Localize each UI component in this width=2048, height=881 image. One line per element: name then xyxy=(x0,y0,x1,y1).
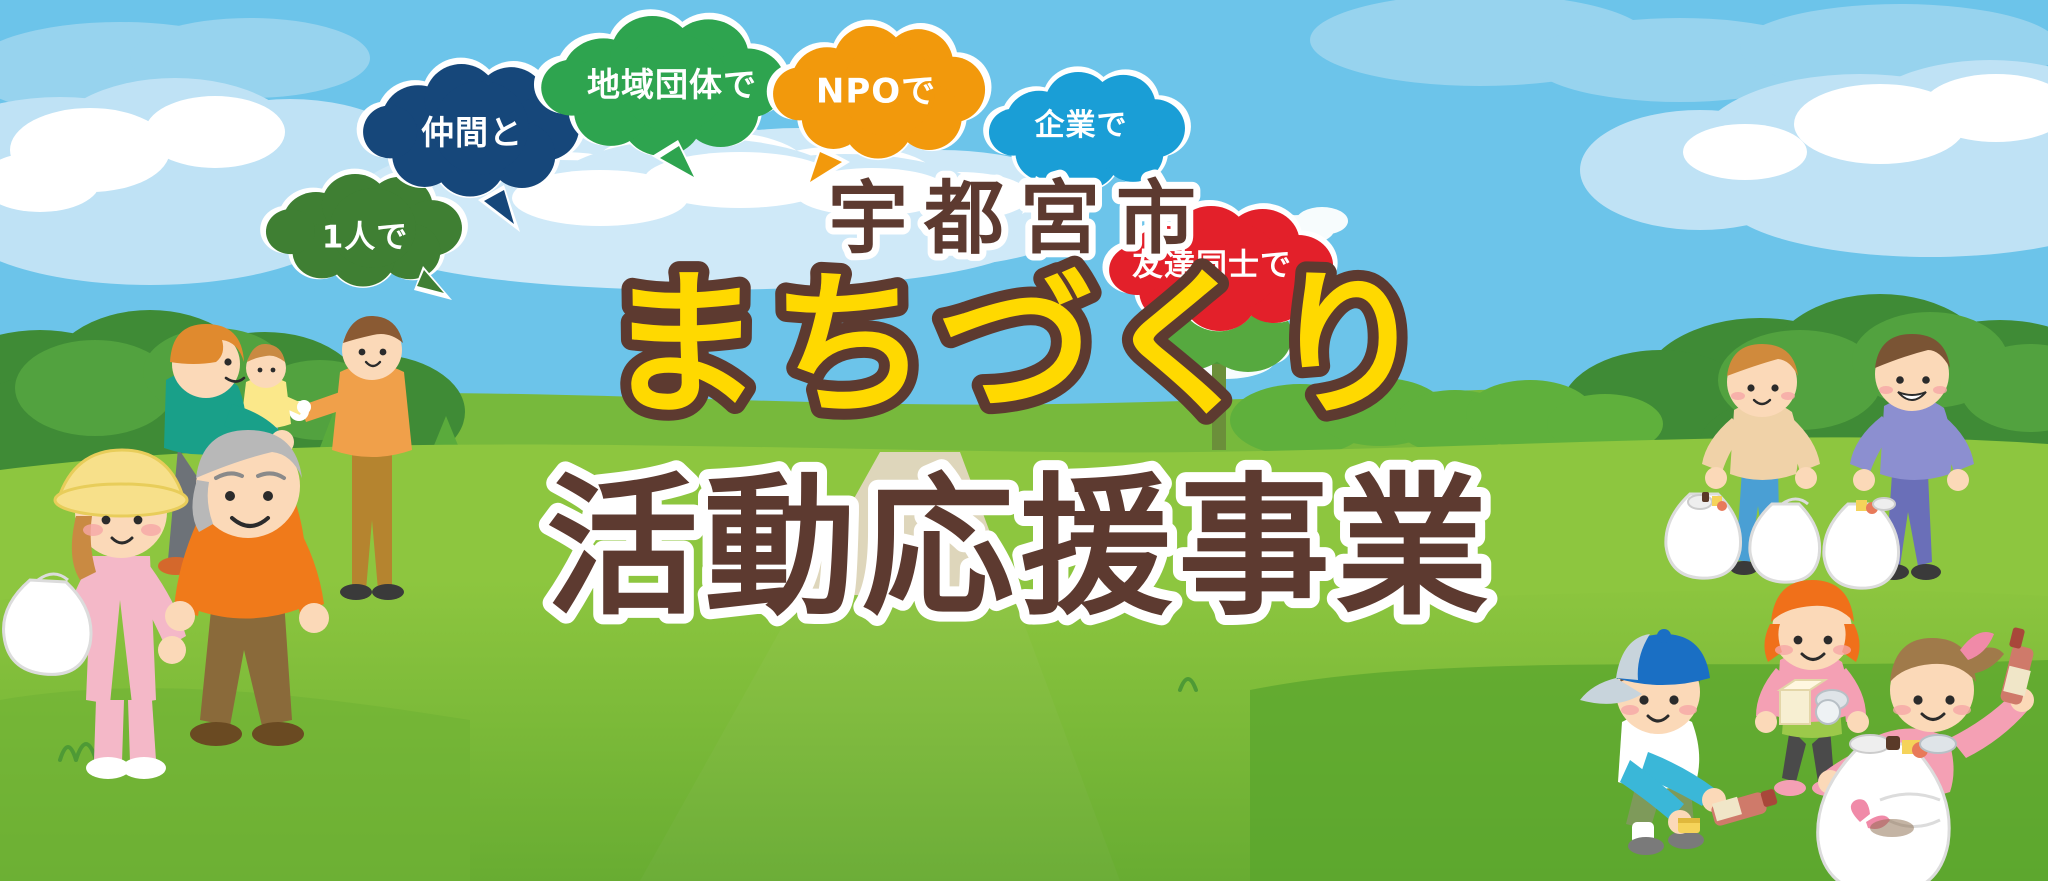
banner-root: 1人で 仲間と 地域団体で NPOで 企業で 友達同士で 宇都宮市 まちづくり … xyxy=(0,0,2048,881)
title-layer: 宇都宮市 まちづくり 活動応援事業 xyxy=(0,0,2048,881)
title-sub: 活動応援事業 xyxy=(546,459,1494,636)
title-organization: 宇都宮市 xyxy=(828,172,1212,265)
title-main: まちづくり xyxy=(605,254,1435,438)
